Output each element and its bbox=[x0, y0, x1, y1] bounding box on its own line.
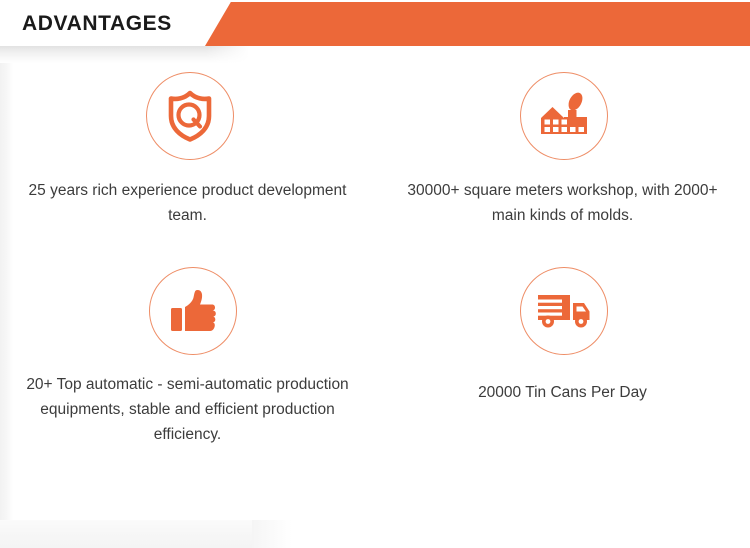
feature-icon-circle bbox=[146, 72, 234, 160]
feature-description: 25 years rich experience product develop… bbox=[23, 178, 353, 228]
thumbs-up-icon bbox=[168, 287, 218, 335]
feature-item-equipment: 20+ Top automatic - semi-automatic produ… bbox=[0, 259, 375, 454]
feature-item-capacity: 20000 Tin Cans Per Day bbox=[375, 259, 750, 454]
bottom-edge-strip bbox=[0, 520, 252, 548]
advantages-grid: 25 years rich experience product develop… bbox=[0, 64, 750, 524]
page-title: ADVANTAGES bbox=[22, 12, 172, 36]
feature-item-quality: 25 years rich experience product develop… bbox=[0, 64, 375, 259]
feature-icon-circle bbox=[149, 267, 237, 355]
header-shadow bbox=[0, 46, 256, 63]
feature-icon-circle bbox=[520, 267, 608, 355]
advantages-page: ADVANTAGES 25 years rich experience prod… bbox=[0, 0, 750, 548]
delivery-truck-icon bbox=[536, 289, 592, 333]
feature-icon-circle bbox=[520, 72, 608, 160]
shield-quality-icon bbox=[164, 89, 216, 143]
feature-description: 30000+ square meters workshop, with 2000… bbox=[398, 178, 728, 228]
feature-description: 20000 Tin Cans Per Day bbox=[398, 380, 728, 405]
feature-item-workshop: 30000+ square meters workshop, with 2000… bbox=[375, 64, 750, 259]
section-header: ADVANTAGES bbox=[0, 0, 750, 64]
feature-description: 20+ Top automatic - semi-automatic produ… bbox=[23, 372, 353, 447]
factory-icon bbox=[537, 90, 591, 142]
